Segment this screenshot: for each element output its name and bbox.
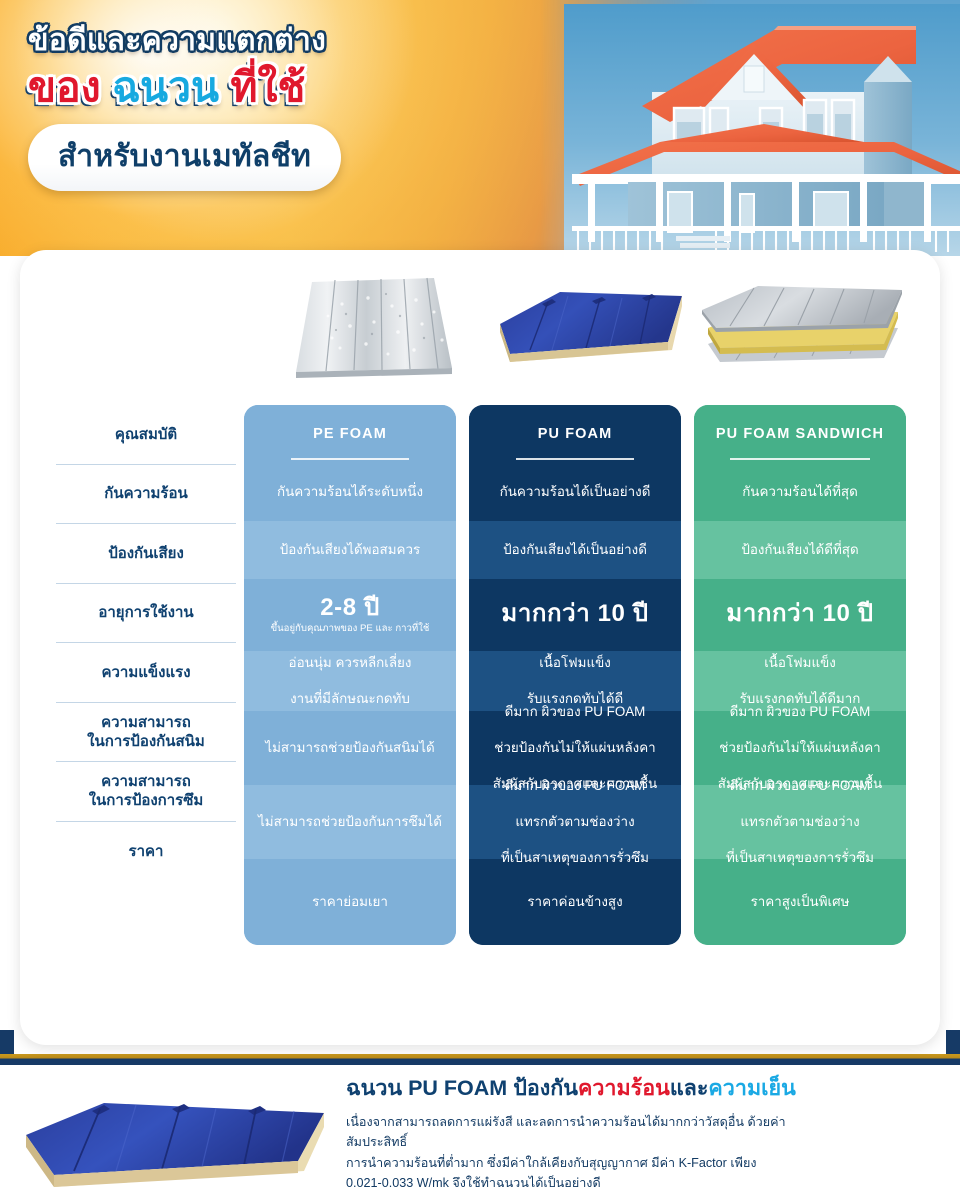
row-label-price: ราคา	[56, 822, 236, 882]
cell-sw-strength: เนื้อโฟมแข็ง รับแรงกดทับได้ดีมาก	[694, 651, 906, 711]
cell-pe-strength: อ่อนนุ่ม ควรหลีกเลี่ยง งานที่มีลักษณะกดท…	[244, 651, 456, 711]
cell-pe-rust: ไม่สามารถช่วยป้องกันสนิมได้	[244, 711, 456, 785]
row-label-properties: คุณสมบัติ	[56, 405, 236, 465]
column-pu-foam[interactable]: PU FOAM กันความร้อนได้เป็นอย่างดี ป้องกั…	[469, 405, 681, 945]
subtitle-pill-label: สำหรับงานเมทัลชีท	[58, 140, 311, 173]
cell-pe-lifespan: 2-8 ปี ขึ้นอยู่กับคุณภาพของ PE และ กาวที…	[244, 579, 456, 651]
infographic-page: ข้อดีและความแตกต่าง ของ ฉนวน ที่ใช้ สำหร…	[0, 0, 960, 1200]
row-label-strength: ความแข็งแรง	[56, 643, 236, 703]
cell-pu-sound: ป้องกันเสียงได้เป็นอย่างดี	[469, 521, 681, 579]
column-header-pu-foam: PU FOAM	[469, 405, 681, 462]
cell-pe-sound: ป้องกันเสียงได้พอสมควร	[244, 521, 456, 579]
footer-heading: ฉนวน PU FOAM ป้องกันความร้อนและความเย็น	[346, 1075, 836, 1103]
cell-pu-rust: ดีมาก ผิวของ PU FOAM ช่วยป้องกันไม่ให้แผ…	[469, 711, 681, 785]
house-illustration	[564, 4, 960, 256]
footer: ฉนวน PU FOAM ป้องกันความร้อนและความเย็น …	[0, 1065, 960, 1200]
cell-sw-seepage: ดีมาก ผิวของ PU FOAM แทรกตัวตามช่องว่าง …	[694, 785, 906, 859]
column-pu-foam-sandwich[interactable]: PU FOAM SANDWICH กันความร้อนได้ที่สุด ป้…	[694, 405, 906, 945]
cell-sw-price: ราคาสูงเป็นพิเศษ	[694, 859, 906, 945]
comparison-card: คุณสมบัติ กันความร้อน ป้องกันเสียง อายุก…	[20, 250, 940, 1045]
column-header-pu-foam-sandwich: PU FOAM SANDWICH	[694, 405, 906, 462]
cell-sw-heat: กันความร้อนได้ที่สุด	[694, 462, 906, 521]
title-word-thichai: ที่ใช้	[231, 65, 306, 111]
title-word-khong: ของ	[28, 65, 101, 111]
title-line-2: ของ ฉนวน ที่ใช้	[28, 65, 498, 111]
row-label-seepage: ความสามารถ ในการป้องการซึม	[56, 762, 236, 822]
title-word-chanuan: ฉนวน	[112, 65, 219, 111]
cell-pu-seepage: ดีมาก ผิวของ PU FOAM แทรกตัวตามช่องว่าง …	[469, 785, 681, 859]
footer-pu-foam-panel-icon	[12, 1077, 332, 1197]
cell-pe-price: ราคาย่อมเยา	[244, 859, 456, 945]
title-block: ข้อดีและความแตกต่าง ของ ฉนวน ที่ใช้ สำหร…	[28, 24, 498, 191]
cell-sw-sound: ป้องกันเสียงได้ดีที่สุด	[694, 521, 906, 579]
cell-pu-lifespan: มากกว่า 10 ปี	[469, 579, 681, 651]
row-label-heat: กันความร้อน	[56, 465, 236, 525]
column-pe-foam[interactable]: PE FOAM กันความร้อนได้ระดับหนึ่ง ป้องกัน…	[244, 405, 456, 945]
comparison-table: คุณสมบัติ กันความร้อน ป้องกันเสียง อายุก…	[20, 250, 940, 1045]
cell-sw-rust: ดีมาก ผิวของ PU FOAM ช่วยป้องกันไม่ให้แผ…	[694, 711, 906, 785]
footer-body: เนื่องจากสามารถลดการแผ่รังสี และลดการนำค…	[346, 1112, 836, 1194]
footer-text-block: ฉนวน PU FOAM ป้องกันความร้อนและความเย็น …	[346, 1075, 836, 1194]
row-label-sound: ป้องกันเสียง	[56, 524, 236, 584]
row-label-rust: ความสามารถ ในการป้องกันสนิม	[56, 703, 236, 763]
subtitle-pill: สำหรับงานเมทัลชีท	[28, 124, 341, 191]
cell-pu-strength: เนื้อโฟมแข็ง รับแรงกดทับได้ดี	[469, 651, 681, 711]
cell-sw-lifespan: มากกว่า 10 ปี	[694, 579, 906, 651]
cell-pu-heat: กันความร้อนได้เป็นอย่างดี	[469, 462, 681, 521]
title-line-1: ข้อดีและความแตกต่าง	[28, 24, 498, 59]
row-label-column: คุณสมบัติ กันความร้อน ป้องกันเสียง อายุก…	[56, 405, 236, 881]
column-header-pe-foam: PE FOAM	[244, 405, 456, 462]
header-banner: ข้อดีและความแตกต่าง ของ ฉนวน ที่ใช้ สำหร…	[0, 0, 960, 256]
cell-pe-seepage: ไม่สามารถช่วยป้องกันการซึมได้	[244, 785, 456, 859]
row-label-lifespan: อายุการใช้งาน	[56, 584, 236, 644]
footer-divider	[0, 1054, 960, 1065]
cell-pu-price: ราคาค่อนข้างสูง	[469, 859, 681, 945]
footer-body-line-3: 0.021-0.033 W/mk จึงใช้ทำฉนวนได้เป็นอย่า…	[346, 1173, 836, 1193]
footer-body-line-2: การนำความร้อนที่ต่ำมาก ซึ่งมีค่าใกล้เคีย…	[346, 1153, 836, 1173]
footer-body-line-1: เนื่องจากสามารถลดการแผ่รังสี และลดการนำค…	[346, 1112, 836, 1153]
cell-pe-heat: กันความร้อนได้ระดับหนึ่ง	[244, 462, 456, 521]
